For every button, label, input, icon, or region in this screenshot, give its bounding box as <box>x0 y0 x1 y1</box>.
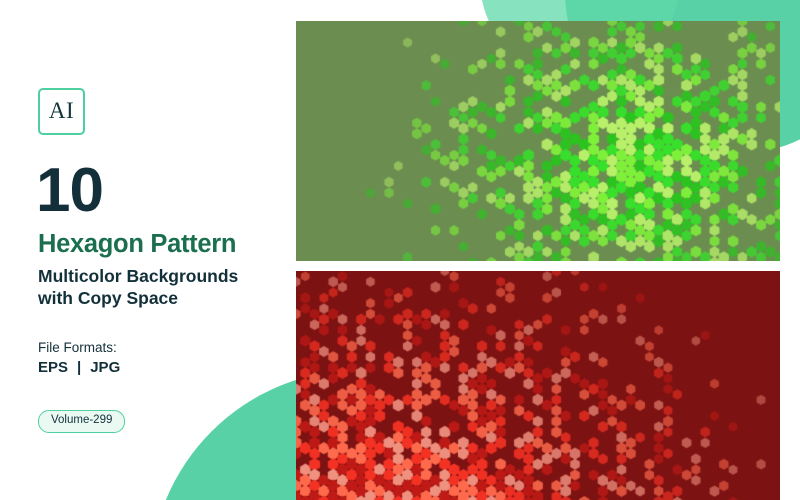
page-subtitle: Multicolor Backgrounds with Copy Space <box>38 265 293 310</box>
file-formats-separator: | <box>77 360 81 375</box>
green-pattern-canvas <box>296 21 780 261</box>
file-format-eps: EPS <box>38 360 68 375</box>
item-count: 10 <box>36 160 103 222</box>
volume-badge: Volume-299 <box>38 410 125 433</box>
info-column: AI 10 Hexagon Pattern Multicolor Backgro… <box>38 0 298 500</box>
file-formats-label: File Formats: <box>38 341 117 355</box>
adobe-illustrator-file-icon: AI <box>38 88 85 135</box>
red-hexagon-pattern-preview <box>296 271 780 500</box>
green-hexagon-pattern-preview <box>296 21 780 261</box>
page-title: Hexagon Pattern <box>38 232 236 258</box>
ai-badge-label: AI <box>49 99 74 124</box>
page-subtitle-line-1: Multicolor Backgrounds <box>38 265 293 287</box>
file-formats-list: EPS | JPG <box>38 360 120 375</box>
page-subtitle-line-2: with Copy Space <box>38 287 293 309</box>
red-pattern-canvas <box>296 271 780 500</box>
file-format-jpg: JPG <box>90 360 120 375</box>
preview-canvas: AI 10 Hexagon Pattern Multicolor Backgro… <box>0 0 800 500</box>
